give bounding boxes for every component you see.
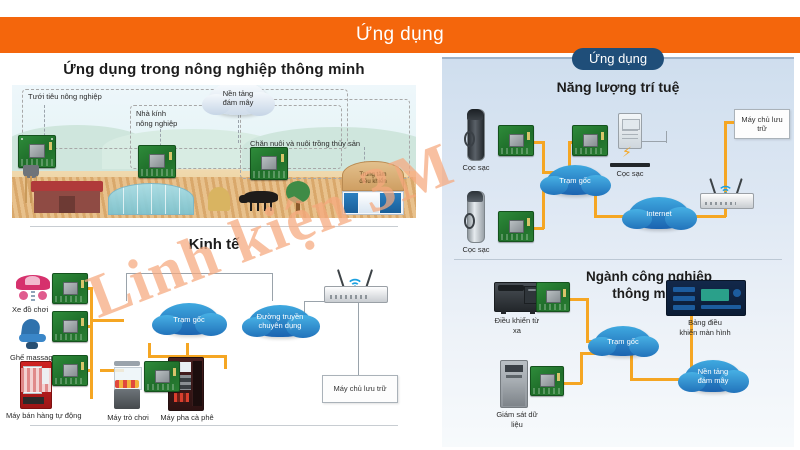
orange-connector: [224, 355, 227, 369]
energy-title: Năng lượng trí tuệ: [442, 59, 794, 95]
pcb-silkscreen: [55, 334, 85, 340]
pcb-pad: [527, 132, 530, 140]
agriculture-section: Ứng dụng trong nông nghiệp thông minh Tư…: [8, 57, 420, 220]
meter-rows: [622, 130, 638, 140]
label-base-station: Trạm gốc: [557, 176, 592, 185]
pcb-module: [52, 355, 88, 386]
panel-item: [673, 287, 695, 292]
solar-bar: [610, 163, 650, 167]
pcb-pad: [557, 373, 560, 381]
cloud-base-station: Trạm gốc: [158, 303, 220, 335]
label-remote-control: Điều khiển từ xa: [486, 316, 548, 335]
router: [700, 175, 752, 209]
orange-connector: [542, 141, 545, 173]
pcb-pad: [601, 132, 604, 140]
pcb-hole: [51, 138, 53, 140]
chair-seat: [19, 334, 45, 342]
orange-connector: [630, 352, 633, 380]
monitor-screen: [380, 193, 401, 213]
vending-machine: [20, 361, 52, 409]
barn-door: [59, 196, 75, 213]
toy-car-spring: [31, 291, 35, 301]
pcb-chip: [546, 290, 561, 303]
claw-top: [114, 361, 140, 366]
label-data-monitoring: Giám sát dữ liệu: [486, 410, 548, 429]
post-cord-holder: [464, 213, 475, 229]
industry-section: Ngành công nghiệp thông minh Điều khiển …: [442, 260, 794, 446]
toy-car-window: [25, 276, 40, 284]
cloud-platform: Nền tảng đám mây: [684, 360, 742, 392]
pcb-module: [52, 311, 88, 342]
router: [324, 267, 386, 303]
label-charging-post-3: Cọc sạc: [450, 245, 502, 255]
cow-leg: [257, 202, 259, 211]
claw-machine: [112, 361, 142, 409]
gray-line: [272, 273, 273, 301]
haystack: [208, 187, 230, 211]
pcb-pad: [173, 368, 176, 376]
vending-tray: [23, 397, 44, 404]
greenhouse-rib: [137, 184, 138, 214]
label-control-center: Trung tâm điều khiển: [359, 172, 386, 186]
control-monitors: [342, 191, 404, 215]
greenhouse-rib: [123, 184, 124, 214]
left-column: Ứng dụng trong nông nghiệp thông minh Tư…: [8, 57, 420, 445]
label-storage-server: Máy chủ lưu trữ: [334, 384, 387, 394]
pcb-silkscreen: [575, 148, 605, 154]
label-claw-machine: Máy trò chơi: [102, 413, 154, 423]
cloud-dedicated-line: Đường truyền chuyên dụng: [248, 305, 312, 337]
post-cord-holder: [464, 131, 475, 147]
barn-roof: [31, 181, 102, 192]
page-title: Ứng dụng: [356, 24, 444, 46]
cloud-platform-label: Nền tảng đám mây: [221, 89, 256, 107]
pcb-pad: [81, 362, 84, 370]
orange-connector: [90, 287, 93, 399]
label-charging-post-2: Cọc sạc: [604, 169, 656, 179]
tree: [286, 181, 310, 211]
gray-line: [126, 273, 272, 274]
orange-connector: [580, 352, 583, 384]
greenhouse-rib: [179, 184, 180, 214]
cloud-platform: Nền tảng đám mây: [208, 85, 268, 115]
greenhouse: [108, 183, 194, 215]
storage-server-box: Máy chủ lưu trữ: [734, 109, 790, 139]
pcb-module: [536, 282, 570, 312]
label-toy-car: Xe đồ chơi: [12, 305, 48, 315]
pcb-silkscreen: [501, 234, 531, 240]
pcb-module: [138, 145, 176, 178]
pcb-chip: [540, 374, 555, 387]
cow-leg: [264, 202, 266, 211]
label-display-panel: Bảng điều khiển màn hình: [664, 318, 746, 337]
pcb-module: [572, 125, 608, 156]
toy-car: [16, 271, 50, 301]
label-storage-server: Máy chủ lưu trữ: [741, 115, 782, 134]
toy-car-wheel: [19, 291, 28, 300]
pcb-chip: [63, 320, 79, 334]
pcb-silkscreen: [533, 388, 561, 394]
pcb-module: [250, 147, 288, 180]
pcb-chip: [509, 220, 525, 234]
toy-car-wheel: [38, 291, 47, 300]
header-bar: Ứng dụng: [0, 17, 800, 53]
pcb-pad: [563, 289, 566, 297]
gray-line: [126, 273, 127, 301]
right-column: Ứng dụng Năng lượng trí tuệ: [442, 57, 794, 447]
infographic-root: Ứng dụng Ứng dụng trong nông nghiệp thôn…: [0, 0, 800, 450]
kiosk-body: [503, 380, 526, 406]
pcb-silkscreen: [55, 296, 85, 302]
label-base-station: Trạm gốc: [171, 315, 206, 324]
pcb-pad: [527, 218, 530, 226]
pcb-silkscreen: [539, 304, 567, 310]
machine-top-block: [498, 285, 525, 291]
gray-line: [358, 301, 359, 375]
panel-indicator: [733, 289, 741, 297]
pcb-module: [498, 125, 534, 156]
pcb-pad: [281, 154, 284, 162]
vending-keypad: [42, 368, 49, 384]
pcb-module: [498, 211, 534, 242]
agriculture-title: Ứng dụng trong nông nghiệp thông minh: [8, 57, 420, 78]
tree-crown: [286, 181, 310, 203]
pcb-silkscreen: [147, 384, 177, 390]
pcb-silkscreen: [501, 148, 531, 154]
massage-chair: [18, 319, 50, 349]
label-vending-machine: Máy bán hàng tự động: [6, 411, 82, 421]
cow-head: [239, 195, 249, 203]
coffee-dispenser: [174, 393, 189, 401]
pcb-silkscreen: [253, 171, 285, 178]
greenhouse-rib: [165, 184, 166, 214]
barn: [34, 181, 100, 213]
orange-connector: [90, 319, 124, 322]
label-base-station: Trạm gốc: [605, 337, 640, 346]
pcb-module: [530, 366, 564, 396]
cloud-internet: Internet: [628, 197, 690, 229]
pcb-chip: [63, 282, 79, 296]
pcb-silkscreen: [55, 378, 85, 384]
tower-leg: [25, 176, 27, 203]
agriculture-scene: Tưới tiêu nông nghiệp Nhà kính nông nghi…: [12, 85, 416, 218]
pcb-chip: [261, 156, 277, 170]
energy-section: Năng lượng trí tuệ Cọc s: [442, 59, 794, 259]
vending-row: [21, 384, 51, 392]
economy-title: Kinh tế: [8, 227, 420, 253]
pcb-pad: [169, 152, 172, 160]
pcb-chip: [155, 370, 171, 384]
economy-section: Kinh tế: [8, 227, 420, 437]
pcb-chip: [149, 154, 165, 168]
claw-prizes: [115, 380, 139, 388]
machine-foot: [530, 311, 535, 314]
pcb-chip: [509, 134, 525, 148]
panel-gauge: [701, 289, 729, 301]
charging-post-1: [462, 109, 488, 159]
pcb-chip: [29, 144, 45, 158]
monitor-screen: [344, 193, 358, 213]
pcb-module: [52, 273, 88, 304]
label-charging-post-1: Cọc sạc: [450, 163, 502, 173]
label-internet: Internet: [644, 209, 673, 218]
kiosk-screen: [505, 365, 524, 372]
tree-trunk: [296, 201, 300, 211]
label-dedicated-line: Đường truyền chuyên dụng: [255, 312, 306, 330]
industrial-machine: [494, 282, 542, 312]
router-leds: [330, 295, 367, 299]
pcb-pad: [81, 280, 84, 288]
post-head: [467, 109, 484, 120]
router-leds: [705, 202, 736, 205]
machine-foot: [501, 311, 506, 314]
lightning-bolt-icon: ⚡: [622, 145, 632, 159]
pcb-silkscreen: [141, 169, 173, 176]
label-coffee-machine: Máy pha cà phê: [158, 413, 216, 423]
charging-post-3: [462, 191, 488, 241]
cloud-base-station: Trạm gốc: [594, 326, 652, 356]
display-control-panel: [666, 280, 746, 316]
post-head: [467, 191, 484, 202]
greenhouse-rib: [151, 184, 152, 214]
data-monitoring-kiosk: [500, 360, 528, 408]
panel-item: [701, 305, 741, 309]
pcb-hole: [21, 138, 23, 140]
monitor-screen: [359, 193, 379, 213]
control-center-arch: Trung tâm điều khiển: [342, 161, 404, 191]
pcb-pad: [49, 142, 52, 150]
label-cloud-platform: Nền tảng đám mây: [696, 367, 731, 385]
orange-connector: [586, 298, 589, 342]
panel-item: [673, 296, 695, 301]
claw-base: [114, 389, 140, 409]
pcb-chip: [63, 364, 79, 378]
label-irrigation: Tưới tiêu nông nghiệp: [28, 92, 102, 102]
storage-server-box: Máy chủ lưu trữ: [322, 375, 398, 403]
cow-leg: [250, 202, 252, 211]
cow-leg: [270, 202, 272, 211]
chair-base: [26, 342, 39, 349]
pcb-module: [18, 135, 56, 168]
pcb-module: [144, 361, 180, 392]
pcb-chip: [583, 134, 599, 148]
connector-line: [238, 115, 239, 143]
cow: [244, 191, 278, 211]
panel-item: [673, 305, 695, 310]
label-greenhouse: Nhà kính nông nghiệp: [136, 109, 177, 128]
meter-screen: [622, 119, 640, 130]
coffee-side-panel: [192, 361, 201, 406]
pcb-pad: [81, 318, 84, 326]
gray-line: [666, 131, 667, 143]
cloud-base-station: Trạm gốc: [546, 165, 604, 195]
kiosk-slot: [506, 375, 522, 378]
economy-diagram: Xe đồ chơi Ghế massage Máy bá: [8, 257, 420, 433]
